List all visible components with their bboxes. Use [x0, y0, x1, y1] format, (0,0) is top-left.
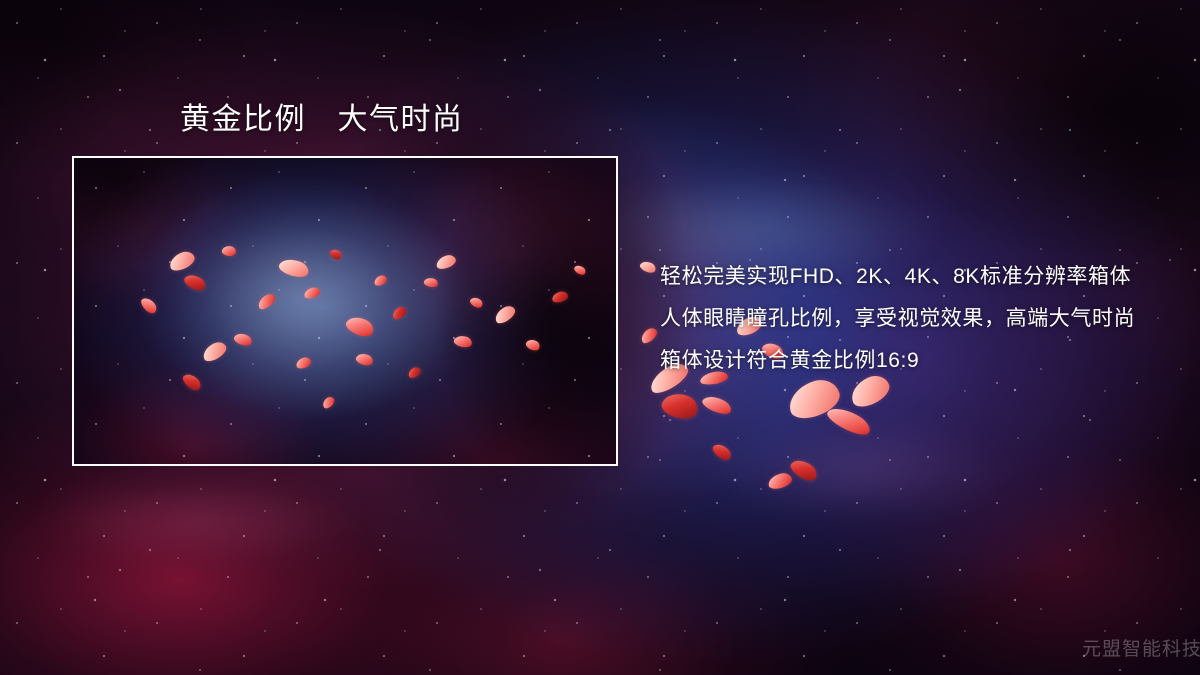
page-title: 黄金比例 大气时尚	[180, 102, 464, 138]
flower-petal	[639, 326, 660, 346]
flower-petal	[711, 441, 734, 463]
flower-petal	[639, 259, 658, 275]
flower-petal	[659, 389, 701, 423]
watermark: 元盟智能科技	[1082, 634, 1200, 661]
flower-petal	[700, 393, 733, 418]
body-line-3: 箱体设计符合黄金比例16:9	[660, 340, 1160, 382]
presentation-slide: 黄金比例 大气时尚 轻松完美实现FHD、2K、4K、8K标准分辨率箱体 人体眼睛…	[0, 0, 1200, 675]
body-line-1: 轻松完美实现FHD、2K、4K、8K标准分辨率箱体	[660, 256, 1160, 298]
flower-petal	[824, 402, 873, 439]
flower-petal	[784, 375, 844, 423]
image-frame	[72, 156, 618, 466]
body-copy: 轻松完美实现FHD、2K、4K、8K标准分辨率箱体 人体眼睛瞳孔比例，享受视觉效…	[660, 256, 1160, 382]
flower-petal	[788, 456, 820, 485]
flower-petal	[767, 471, 794, 490]
frame-starfield	[74, 158, 616, 464]
body-line-2: 人体眼睛瞳孔比例，享受视觉效果，高端大气时尚	[660, 298, 1160, 340]
